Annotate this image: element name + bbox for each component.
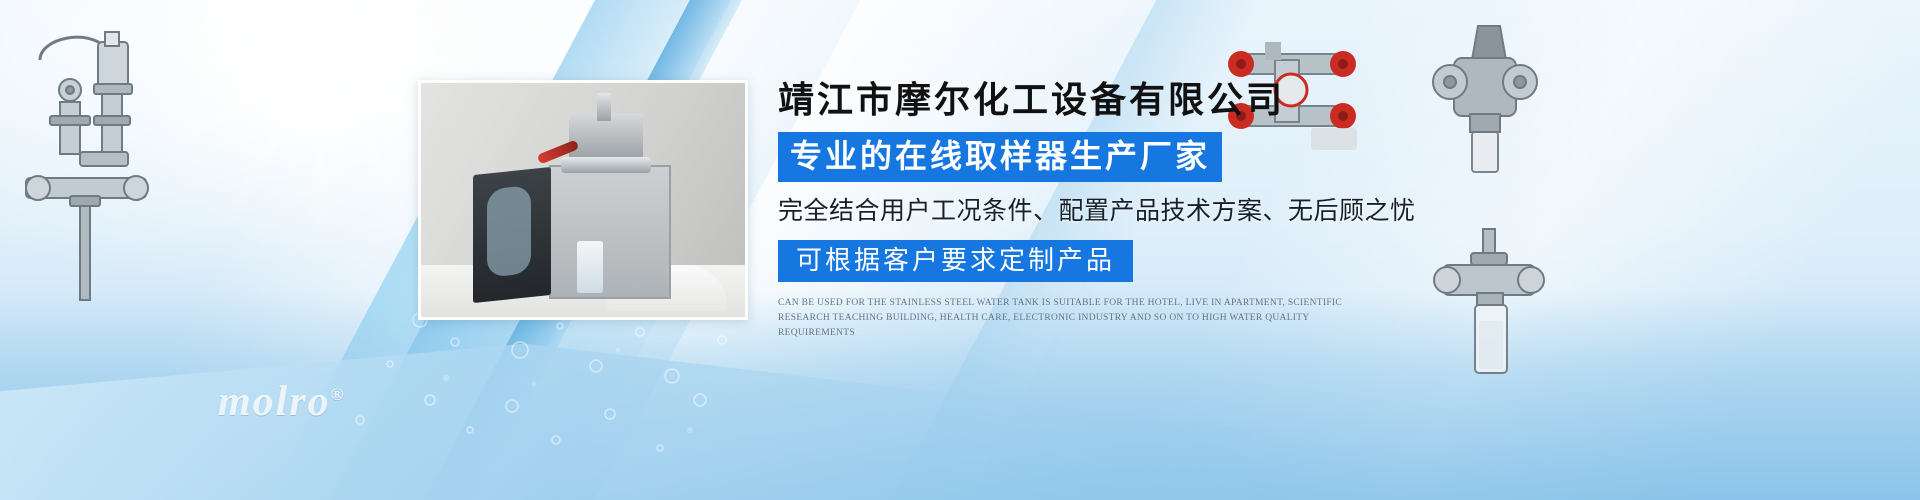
photo-cabinet-window <box>487 185 531 278</box>
registered-trademark-icon: ® <box>331 385 346 404</box>
product-photo <box>418 80 748 320</box>
photo-cabinet-body <box>549 165 671 299</box>
photo-cabinet-door <box>473 167 551 303</box>
headline-badge: 专业的在线取样器生产厂家 <box>778 132 1222 182</box>
banner-text-block: 靖江市摩尔化工设备有限公司 专业的在线取样器生产厂家 完全结合用户工况条件、配置… <box>778 78 1418 341</box>
brand-watermark: molro® <box>218 378 345 426</box>
watermark-text: molro <box>218 379 331 425</box>
photo-valve-stem <box>597 93 611 121</box>
english-description: CAN BE USED FOR THE STAINLESS STEEL WATE… <box>778 296 1378 341</box>
equipment-left-image <box>10 20 170 310</box>
photo-sample-bottle <box>577 241 603 293</box>
sub-headline: 完全结合用户工况条件、配置产品技术方案、无后顾之忧 <box>778 194 1418 228</box>
promotional-banner: 靖江市摩尔化工设备有限公司 专业的在线取样器生产厂家 完全结合用户工况条件、配置… <box>0 0 1920 500</box>
equipment-flange-body-image <box>1420 20 1550 180</box>
tagline-badge: 可根据客户要求定制产品 <box>778 240 1133 282</box>
company-name: 靖江市摩尔化工设备有限公司 <box>778 78 1418 122</box>
photo-valve-flange <box>561 157 651 173</box>
equipment-sampler-bottle-image <box>1425 225 1555 390</box>
